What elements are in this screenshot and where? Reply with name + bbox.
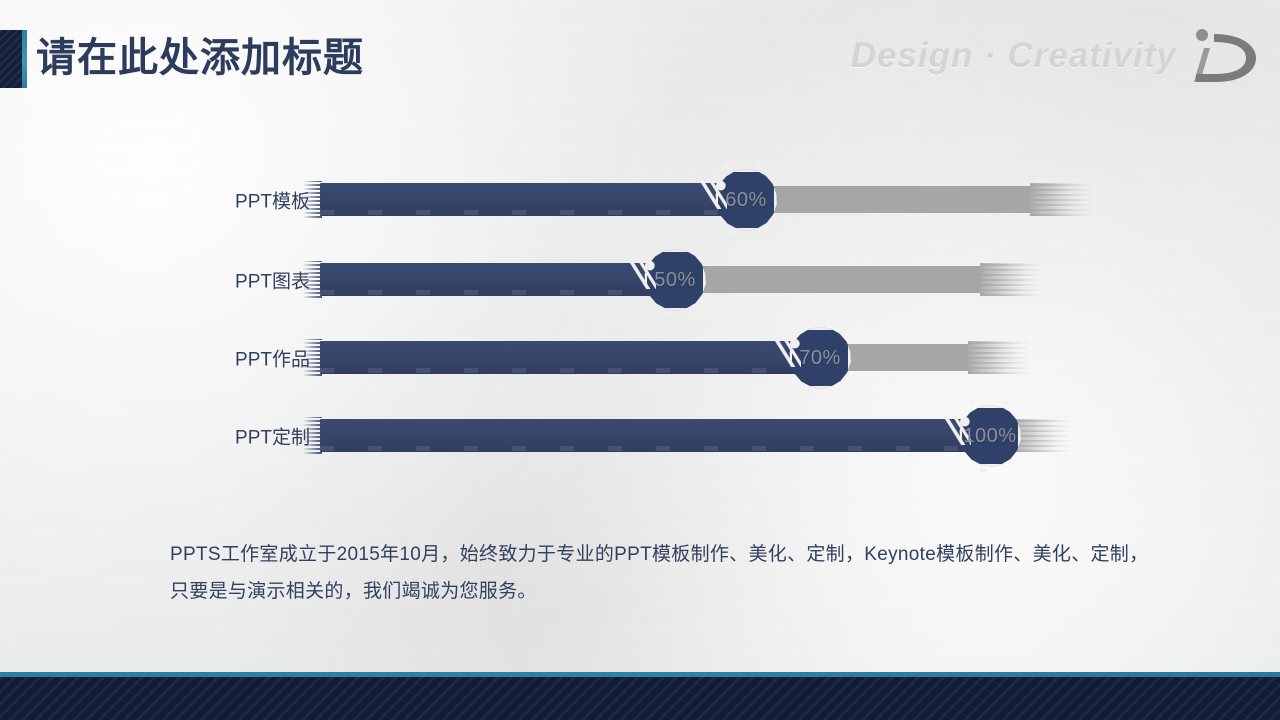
progress-row-label: PPT模板 [150, 187, 310, 214]
progress-row-label: PPT图表 [150, 267, 310, 294]
progress-value-marker: 70% [789, 327, 851, 389]
ink-fleck-icon [723, 165, 728, 168]
progress-value-label: 50% [654, 269, 696, 292]
ink-fleck-icon [831, 323, 837, 326]
ink-fleck-icon [755, 164, 762, 167]
id-logo-icon [1184, 22, 1272, 92]
progress-track: 70% [320, 337, 1040, 379]
ink-fleck-icon [729, 231, 738, 235]
progress-value-label: 100% [963, 425, 1016, 448]
progress-track: 60% [320, 179, 1040, 221]
progress-value-label: 70% [799, 347, 841, 370]
page-title: 请在此处添加标题 [36, 28, 364, 88]
progress-track: 50% [320, 259, 1040, 301]
progress-row: PPT作品 70% [0, 328, 1280, 388]
progress-track-fill [320, 183, 746, 216]
presentation-slide: 请在此处添加标题 Design · Creativity PPT模板 60% [0, 0, 1280, 720]
ink-fleck-icon [654, 244, 660, 247]
ink-fleck-icon [801, 322, 808, 325]
progress-value-marker: 60% [715, 169, 777, 231]
progress-value-label: 60% [725, 189, 767, 212]
progress-track-fill [320, 263, 675, 296]
progress-row: PPT定制 100% [0, 406, 1280, 466]
progress-row-label: PPT作品 [150, 345, 310, 372]
progress-bars-group: PPT模板 60% PPT图表 [0, 170, 1280, 490]
progress-track-fill [320, 419, 1010, 452]
footer-band [0, 677, 1280, 720]
ink-fleck-icon [662, 312, 670, 316]
ink-fleck-icon [1003, 401, 1009, 404]
ink-fleck-icon [969, 400, 976, 403]
progress-value-marker: 100% [959, 405, 1021, 467]
title-accent-bar [0, 30, 22, 88]
progress-row: PPT模板 60% [0, 170, 1280, 230]
progress-value-marker: 50% [644, 249, 706, 311]
ink-fleck-icon [688, 246, 694, 249]
progress-track-fill [320, 341, 820, 374]
progress-row-label: PPT定制 [150, 423, 310, 450]
ink-fleck-icon [805, 389, 814, 393]
ink-fleck-icon [979, 468, 987, 472]
progress-track: 100% [320, 415, 1040, 457]
brand-tagline: Design · Creativity [851, 30, 1177, 82]
progress-row: PPT图表 50% [0, 250, 1280, 310]
title-accent-edge [22, 30, 27, 88]
body-paragraph: PPTS工作室成立于2015年10月，始终致力于专业的PPT模板制作、美化、定制… [170, 536, 1160, 610]
